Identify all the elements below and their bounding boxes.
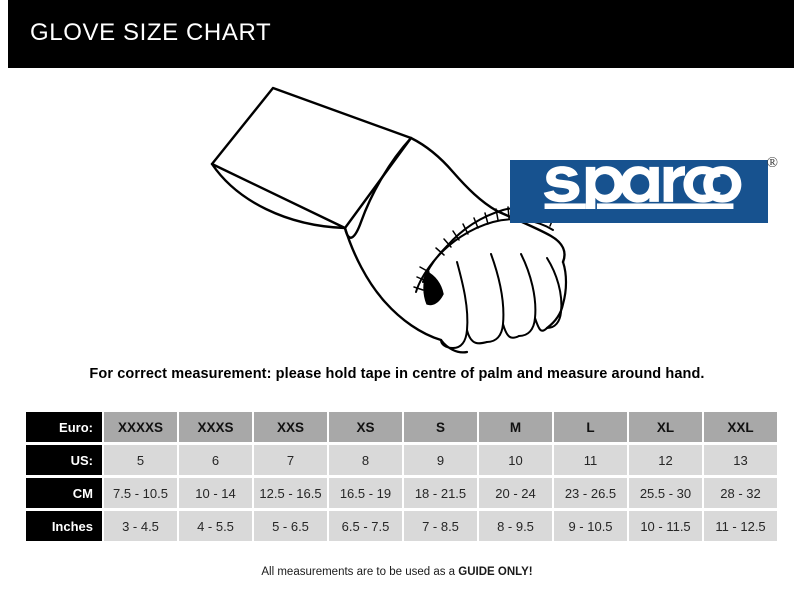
size-header-cell: XXXXS	[104, 412, 177, 442]
size-value-cell: 8 - 9.5	[479, 511, 552, 541]
row-label-cell: US:	[26, 445, 102, 475]
table-row: Euro:XXXXSXXXSXXSXSSMLXLXXL	[26, 412, 777, 442]
size-header-cell: XXL	[704, 412, 777, 442]
sparco-logo: ®	[510, 156, 778, 226]
size-value-cell: 11 - 12.5	[704, 511, 777, 541]
size-value-cell: 6.5 - 7.5	[329, 511, 402, 541]
size-header-cell: XXS	[254, 412, 327, 442]
header-banner: GLOVE SIZE CHART	[8, 0, 794, 68]
size-header-cell: XL	[629, 412, 702, 442]
size-header-cell: XS	[329, 412, 402, 442]
guide-only-note: All measurements are to be used as a GUI…	[0, 566, 794, 578]
size-value-cell: 7.5 - 10.5	[104, 478, 177, 508]
size-value-cell: 8	[329, 445, 402, 475]
size-value-cell: 23 - 26.5	[554, 478, 627, 508]
size-value-cell: 3 - 4.5	[104, 511, 177, 541]
size-value-cell: 20 - 24	[479, 478, 552, 508]
size-value-cell: 10 - 14	[179, 478, 252, 508]
sparco-wordmark-text	[510, 159, 768, 209]
size-value-cell: 18 - 21.5	[404, 478, 477, 508]
footer-note-normal: All measurements are to be used as a	[261, 566, 458, 578]
page-title: GLOVE SIZE CHART	[30, 19, 271, 47]
illustration-area: ®	[0, 68, 794, 358]
registered-trademark-icon: ®	[767, 156, 778, 171]
size-value-cell: 4 - 5.5	[179, 511, 252, 541]
size-header-cell: L	[554, 412, 627, 442]
glove-size-table: Euro:XXXXSXXXSXXSXSSMLXLXXLUS:5678910111…	[24, 409, 779, 544]
size-value-cell: 6	[179, 445, 252, 475]
size-value-cell: 10	[479, 445, 552, 475]
size-header-cell: XXXS	[179, 412, 252, 442]
row-label-cell: Euro:	[26, 412, 102, 442]
size-value-cell: 5	[104, 445, 177, 475]
size-value-cell: 12.5 - 16.5	[254, 478, 327, 508]
size-header-cell: S	[404, 412, 477, 442]
size-value-cell: 16.5 - 19	[329, 478, 402, 508]
size-header-cell: M	[479, 412, 552, 442]
footer-note-bold: GUIDE ONLY!	[458, 566, 532, 578]
size-value-cell: 5 - 6.5	[254, 511, 327, 541]
table-row: Inches3 - 4.54 - 5.55 - 6.56.5 - 7.57 - …	[26, 511, 777, 541]
row-label-cell: CM	[26, 478, 102, 508]
table-row: CM7.5 - 10.510 - 1412.5 - 16.516.5 - 191…	[26, 478, 777, 508]
measurement-instruction: For correct measurement: please hold tap…	[0, 366, 794, 382]
table-row: US:5678910111213	[26, 445, 777, 475]
size-value-cell: 7	[254, 445, 327, 475]
size-value-cell: 9	[404, 445, 477, 475]
size-value-cell: 25.5 - 30	[629, 478, 702, 508]
size-value-cell: 28 - 32	[704, 478, 777, 508]
size-value-cell: 9 - 10.5	[554, 511, 627, 541]
size-value-cell: 13	[704, 445, 777, 475]
size-value-cell: 7 - 8.5	[404, 511, 477, 541]
size-value-cell: 11	[554, 445, 627, 475]
size-value-cell: 12	[629, 445, 702, 475]
row-label-cell: Inches	[26, 511, 102, 541]
size-value-cell: 10 - 11.5	[629, 511, 702, 541]
